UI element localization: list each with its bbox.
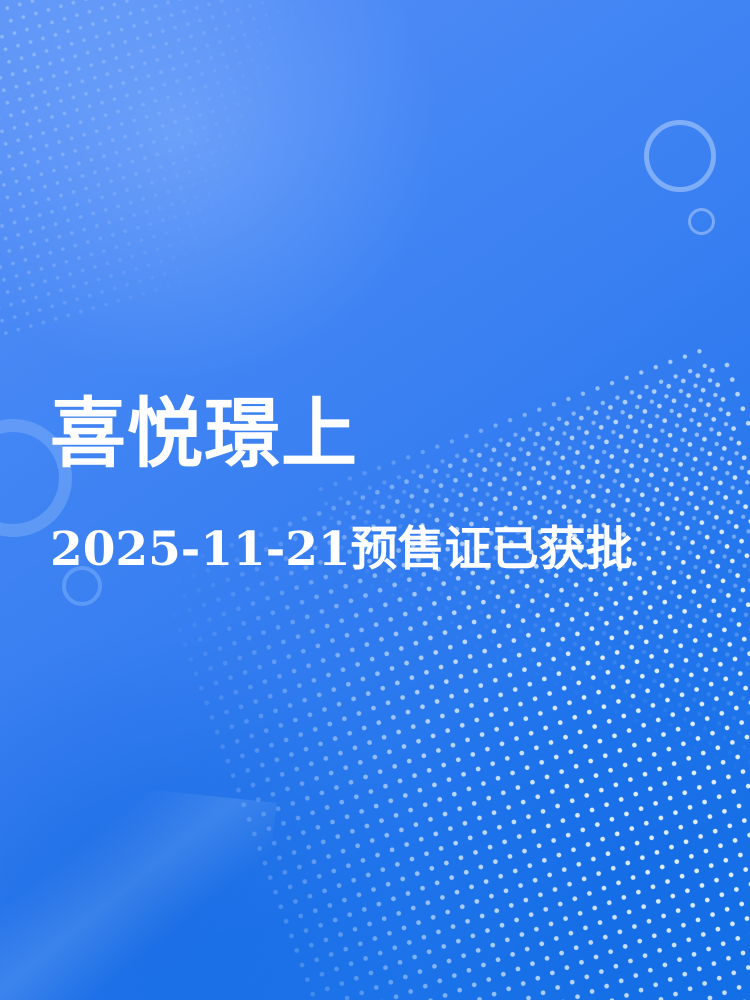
circle-outline-top-right-large-icon — [644, 120, 716, 192]
circle-outline-top-right-small-icon — [688, 208, 715, 235]
presale-permit-subtitle: 2025-11-21预售证已获批 — [50, 526, 710, 573]
poster-text-block: 喜悦璟上 2025-11-21预售证已获批 — [50, 396, 710, 573]
project-title: 喜悦璟上 — [50, 396, 710, 472]
promo-poster: 喜悦璟上 2025-11-21预售证已获批 — [0, 0, 750, 1000]
